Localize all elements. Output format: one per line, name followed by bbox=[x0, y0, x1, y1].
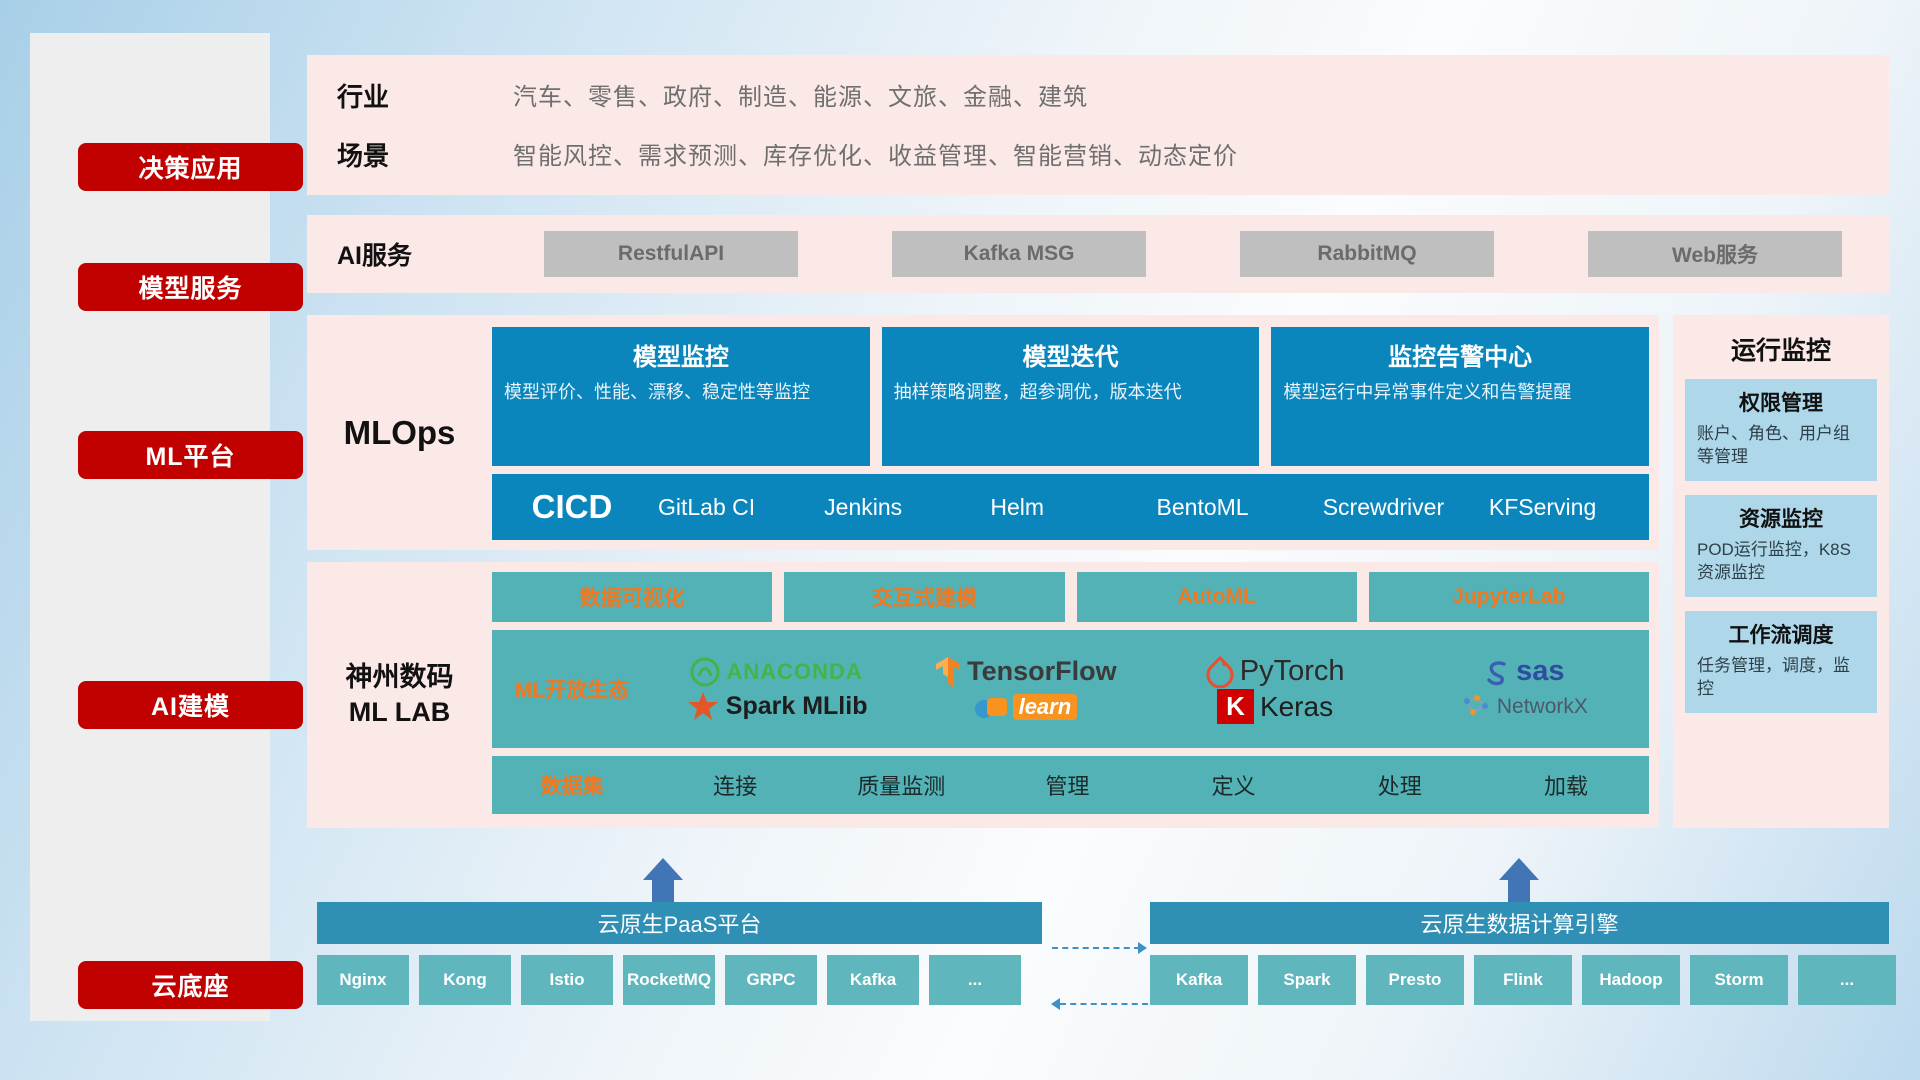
ml-open-ecosystem-row: ML开放生态 ANACONDA bbox=[492, 630, 1649, 748]
scenario-label: 场景 bbox=[337, 136, 513, 173]
anaconda-logo: ANACONDA bbox=[690, 657, 862, 687]
tensorflow-label: TensorFlow bbox=[967, 656, 1117, 687]
mlops-card-alert-center[interactable]: 监控告警中心 模型运行中异常事件定义和告警提醒 bbox=[1271, 327, 1649, 466]
monitor-card-workflow[interactable]: 工作流调度 任务管理，调度，监控 bbox=[1685, 611, 1877, 713]
ecosystem-label: ML开放生态 bbox=[492, 674, 652, 704]
paas-chip-row: Nginx Kong Istio RocketMQ GRPC Kafka ... bbox=[317, 955, 1021, 1005]
decision-application-band: 行业 汽车、零售、政府、制造、能源、文旅、金融、建筑 场景 智能风控、需求预测、… bbox=[307, 55, 1889, 195]
keras-logo: K Keras bbox=[1217, 689, 1333, 724]
card-title: 权限管理 bbox=[1697, 387, 1865, 417]
dataset-label: 数据集 bbox=[492, 770, 652, 800]
mlops-band: MLOps 模型监控 模型评价、性能、漂移、稳定性等监控 模型迭代 抽样策略调整… bbox=[307, 315, 1659, 550]
cicd-label: CICD bbox=[492, 488, 652, 526]
card-desc: 账户、角色、用户组等管理 bbox=[1697, 423, 1865, 469]
cloud-native-data-engine-bar[interactable]: 云原生数据计算引擎 bbox=[1150, 902, 1889, 944]
card-title: 监控告警中心 bbox=[1283, 337, 1637, 372]
chip-presto[interactable]: Presto bbox=[1366, 955, 1464, 1005]
scikit-learn-logo: learn bbox=[975, 693, 1078, 721]
chip-kong[interactable]: Kong bbox=[419, 955, 511, 1005]
ml-lab-band: 神州数码 ML LAB 数据可视化 交互式建模 AutoML JupyterLa… bbox=[307, 562, 1659, 828]
dataset-item-connect[interactable]: 连接 bbox=[652, 769, 818, 801]
industry-label: 行业 bbox=[337, 77, 513, 114]
card-desc: 模型评价、性能、漂移、稳定性等监控 bbox=[504, 380, 858, 404]
chip-istio[interactable]: Istio bbox=[521, 955, 613, 1005]
ai-service-band: AI服务 RestfulAPI Kafka MSG RabbitMQ Web服务 bbox=[307, 215, 1889, 293]
lab-tab-automl[interactable]: AutoML bbox=[1077, 572, 1357, 622]
architecture-diagram: 决策应用 模型服务 ML平台 AI建模 云底座 行业 汽车、零售、政府、制造、能… bbox=[0, 0, 1920, 1080]
cicd-tool-jenkins[interactable]: Jenkins bbox=[818, 495, 984, 519]
engine-chip-row: Kafka Spark Presto Flink Hadoop Storm ..… bbox=[1150, 955, 1896, 1005]
spark-mllib-logo: Spark MLlib bbox=[686, 691, 868, 723]
scenario-value: 智能风控、需求预测、库存优化、收益管理、智能营销、动态定价 bbox=[513, 136, 1889, 173]
stage-badge-model-service[interactable]: 模型服务 bbox=[78, 263, 303, 311]
pytorch-label: PyTorch bbox=[1240, 655, 1345, 688]
ml-lab-label-line1: 神州数码 bbox=[346, 660, 454, 695]
service-pill-kafka-msg[interactable]: Kafka MSG bbox=[892, 231, 1146, 277]
monitor-card-permission[interactable]: 权限管理 账户、角色、用户组等管理 bbox=[1685, 379, 1877, 481]
sas-label: sas bbox=[1516, 655, 1564, 688]
dataset-row: 数据集 连接 质量监测 管理 定义 处理 加载 bbox=[492, 756, 1649, 814]
ml-lab-label: 神州数码 ML LAB bbox=[307, 562, 492, 828]
cicd-tool-gitlab-ci[interactable]: GitLab CI bbox=[652, 495, 818, 519]
dataset-item-quality-monitoring[interactable]: 质量监测 bbox=[818, 769, 984, 801]
card-desc: 模型运行中异常事件定义和告警提醒 bbox=[1283, 380, 1637, 404]
service-pill-web-service[interactable]: Web服务 bbox=[1588, 231, 1842, 277]
industry-value: 汽车、零售、政府、制造、能源、文旅、金融、建筑 bbox=[513, 77, 1889, 114]
ai-service-label: AI服务 bbox=[337, 236, 497, 272]
pytorch-logo: PyTorch bbox=[1206, 655, 1345, 688]
stage-badge-ai-modeling[interactable]: AI建模 bbox=[78, 681, 303, 729]
cicd-tool-screwdriver[interactable]: Screwdriver bbox=[1317, 495, 1483, 519]
lab-tab-interactive-modeling[interactable]: 交互式建模 bbox=[784, 572, 1064, 622]
chip-kafka[interactable]: Kafka bbox=[827, 955, 919, 1005]
lab-tab-data-visualization[interactable]: 数据可视化 bbox=[492, 572, 772, 622]
tensorflow-logo: TensorFlow bbox=[935, 656, 1117, 688]
chip-more-engine[interactable]: ... bbox=[1798, 955, 1896, 1005]
chip-hadoop[interactable]: Hadoop bbox=[1582, 955, 1680, 1005]
stage-badge-decision-app[interactable]: 决策应用 bbox=[78, 143, 303, 191]
anaconda-label: ANACONDA bbox=[726, 659, 862, 685]
mlops-card-model-iteration[interactable]: 模型迭代 抽样策略调整，超参调优，版本迭代 bbox=[882, 327, 1260, 466]
keras-label: Keras bbox=[1260, 691, 1333, 723]
card-title: 模型迭代 bbox=[894, 337, 1248, 372]
ml-lab-label-line2: ML LAB bbox=[346, 695, 454, 730]
cicd-row: CICD GitLab CI Jenkins Helm BentoML Scre… bbox=[492, 474, 1649, 540]
service-pill-restfulapi[interactable]: RestfulAPI bbox=[544, 231, 798, 277]
scikit-learn-label: learn bbox=[1013, 694, 1078, 720]
cicd-tool-helm[interactable]: Helm bbox=[984, 495, 1150, 519]
stage-rail: 决策应用 模型服务 ML平台 AI建模 云底座 bbox=[30, 33, 270, 1021]
sas-logo: sas bbox=[1484, 655, 1564, 688]
spark-mllib-label: Spark MLlib bbox=[726, 692, 868, 721]
mlops-label: MLOps bbox=[307, 315, 492, 550]
keras-mark: K bbox=[1217, 689, 1254, 724]
runtime-monitor-title: 运行监控 bbox=[1673, 315, 1889, 379]
dataset-item-load[interactable]: 加载 bbox=[1483, 769, 1649, 801]
chip-kafka-engine[interactable]: Kafka bbox=[1150, 955, 1248, 1005]
stage-badge-ml-platform[interactable]: ML平台 bbox=[78, 431, 303, 479]
card-title: 模型监控 bbox=[504, 337, 858, 372]
cicd-tool-kfserving[interactable]: KFServing bbox=[1483, 495, 1649, 519]
cloud-native-paas-bar[interactable]: 云原生PaaS平台 bbox=[317, 902, 1042, 944]
chip-rocketmq[interactable]: RocketMQ bbox=[623, 955, 715, 1005]
chip-grpc[interactable]: GRPC bbox=[725, 955, 817, 1005]
card-desc: POD运行监控，K8S资源监控 bbox=[1697, 539, 1865, 585]
card-title: 工作流调度 bbox=[1697, 619, 1865, 649]
chip-nginx[interactable]: Nginx bbox=[317, 955, 409, 1005]
chip-more-paas[interactable]: ... bbox=[929, 955, 1021, 1005]
dataset-item-manage[interactable]: 管理 bbox=[984, 769, 1150, 801]
networkx-label: NetworkX bbox=[1497, 695, 1588, 719]
dataset-item-define[interactable]: 定义 bbox=[1151, 769, 1317, 801]
card-desc: 抽样策略调整，超参调优，版本迭代 bbox=[894, 380, 1248, 404]
stage-badge-cloud-base[interactable]: 云底座 bbox=[78, 961, 303, 1009]
mlops-card-model-monitoring[interactable]: 模型监控 模型评价、性能、漂移、稳定性等监控 bbox=[492, 327, 870, 466]
lab-tab-jupyterlab[interactable]: JupyterLab bbox=[1369, 572, 1649, 622]
runtime-monitor-column: 运行监控 权限管理 账户、角色、用户组等管理 资源监控 POD运行监控，K8S资… bbox=[1673, 315, 1889, 828]
service-pill-rabbitmq[interactable]: RabbitMQ bbox=[1240, 231, 1494, 277]
dataset-item-process[interactable]: 处理 bbox=[1317, 769, 1483, 801]
card-title: 资源监控 bbox=[1697, 503, 1865, 533]
cicd-tool-bentoml[interactable]: BentoML bbox=[1151, 495, 1317, 519]
card-desc: 任务管理，调度，监控 bbox=[1697, 655, 1865, 701]
chip-spark[interactable]: Spark bbox=[1258, 955, 1356, 1005]
chip-flink[interactable]: Flink bbox=[1474, 955, 1572, 1005]
networkx-logo: NetworkX bbox=[1461, 693, 1588, 721]
monitor-card-resource[interactable]: 资源监控 POD运行监控，K8S资源监控 bbox=[1685, 495, 1877, 597]
chip-storm[interactable]: Storm bbox=[1690, 955, 1788, 1005]
